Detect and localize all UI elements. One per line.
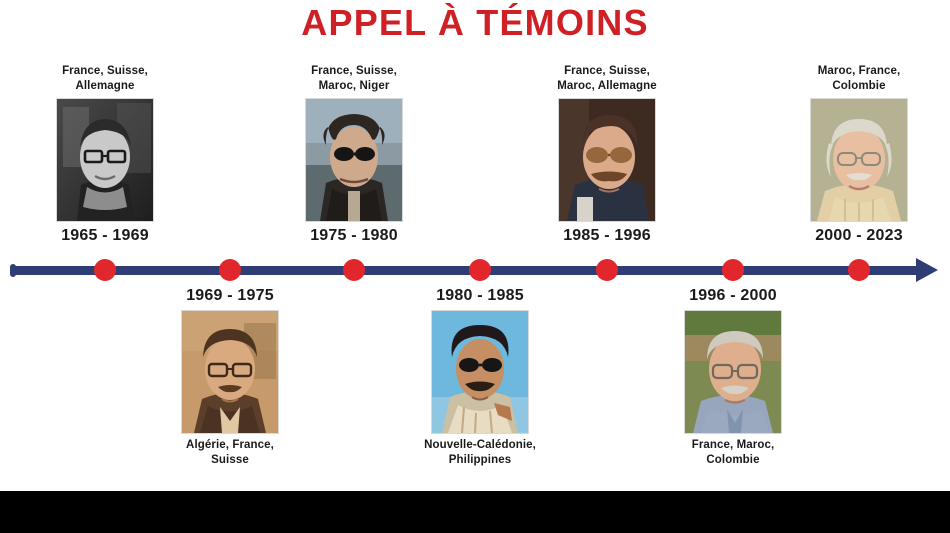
timeline-axis [12,266,920,275]
country-label-2000-2023: Maroc, France, Colombie [764,64,950,94]
year-label-1985-1996: 1985 - 1996 [512,226,702,246]
timeline-arrow-icon [916,258,938,282]
timeline-dot-1996-2000[interactable] [722,259,744,281]
bottom-black-band [0,491,950,533]
year-label-1980-1985: 1980 - 1985 [385,286,575,306]
timeline-dot-1965-1969[interactable] [94,259,116,281]
timeline-dot-1975-1980[interactable] [343,259,365,281]
timeline-event-1985-1996: France, Suisse, Maroc, Allemagne 1985 - … [512,64,702,246]
timeline-dot-1980-1985[interactable] [469,259,491,281]
country-label-1965-1969: France, Suisse, Allemagne [10,64,200,94]
year-label-1965-1969: 1965 - 1969 [10,226,200,246]
portrait-photo-1985-1996 [558,98,656,222]
timeline-event-1980-1985: 1980 - 1985 Nouvelle-Calédonie, Phili [385,286,575,468]
infographic-canvas: APPEL À TÉMOINS France, Suisse, Allemagn… [0,0,950,533]
page-title: APPEL À TÉMOINS [0,2,950,44]
portrait-photo-1975-1980 [305,98,403,222]
portrait-photo-1980-1985 [431,310,529,434]
timeline-event-1965-1969: France, Suisse, Allemagne [10,64,200,246]
portrait-photo-2000-2023 [810,98,908,222]
portrait-photo-1969-1975 [181,310,279,434]
timeline-event-1975-1980: France, Suisse, Maroc, Niger 1975 - 1980 [259,64,449,246]
country-label-1969-1975: Algérie, France, Suisse [135,438,325,468]
year-label-2000-2023: 2000 - 2023 [764,226,950,246]
country-label-1980-1985: Nouvelle-Calédonie, Philippines [385,438,575,468]
year-label-1996-2000: 1996 - 2000 [638,286,828,306]
timeline-event-1996-2000: 1996 - 2000 France, Maroc, Colombie [638,286,828,468]
portrait-photo-1996-2000 [684,310,782,434]
country-label-1975-1980: France, Suisse, Maroc, Niger [259,64,449,94]
portrait-photo-1965-1969 [56,98,154,222]
year-label-1975-1980: 1975 - 1980 [259,226,449,246]
timeline-dot-1985-1996[interactable] [596,259,618,281]
timeline-dot-2000-2023[interactable] [848,259,870,281]
country-label-1996-2000: France, Maroc, Colombie [638,438,828,468]
country-label-1985-1996: France, Suisse, Maroc, Allemagne [512,64,702,94]
timeline-event-1969-1975: 1969 - 1975 Algérie, France, Suisse [135,286,325,468]
timeline-event-2000-2023: Maroc, France, Colombie 2000 - 2023 [764,64,950,246]
year-label-1969-1975: 1969 - 1975 [135,286,325,306]
timeline-dot-1969-1975[interactable] [219,259,241,281]
